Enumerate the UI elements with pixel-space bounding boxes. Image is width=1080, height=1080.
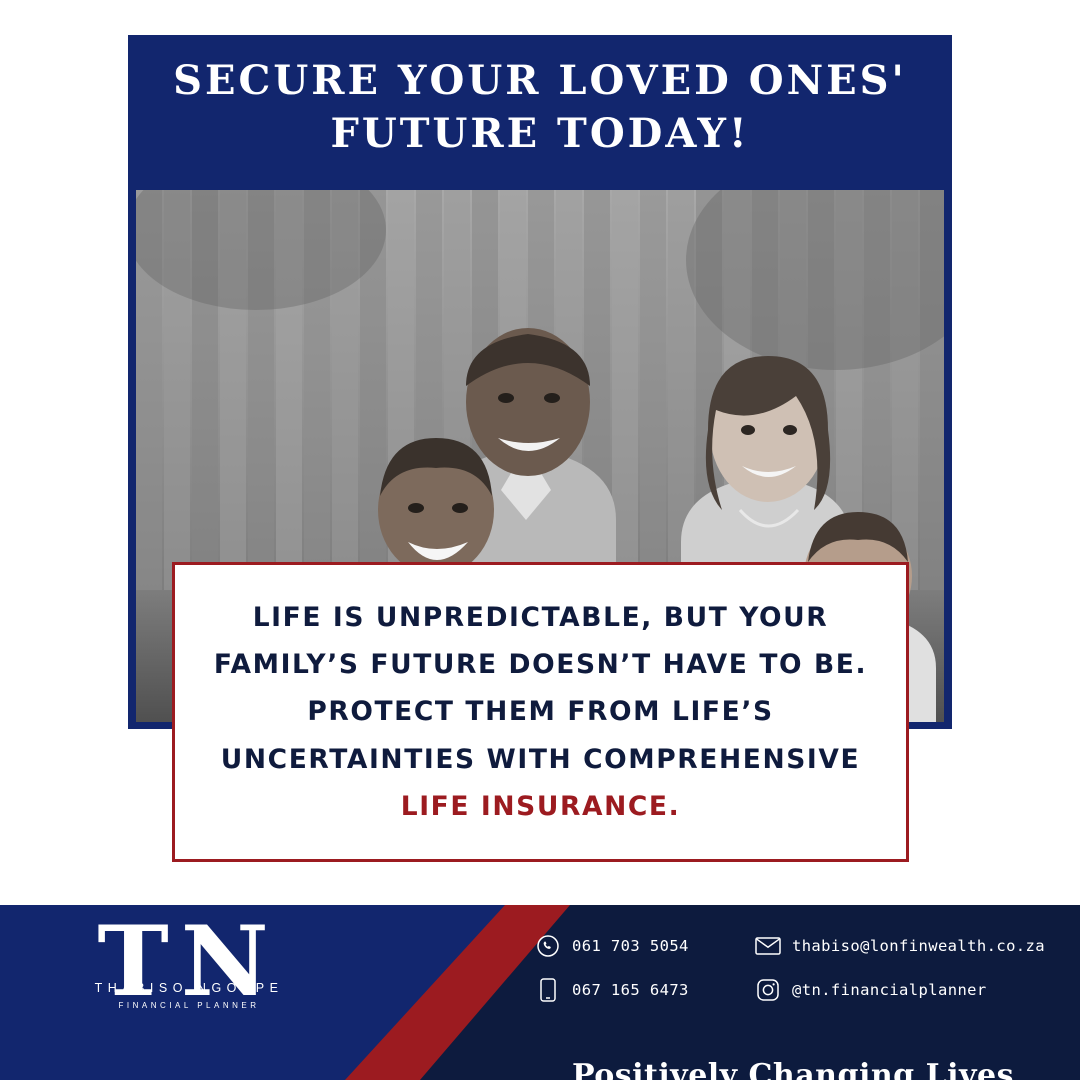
contact-row: 061 703 5054 thabiso@lonfinwealth.co.za [535, 933, 1045, 959]
logo-name: THABISO NGOEPE [44, 981, 334, 995]
contact-mobile[interactable]: 067 165 6473 [535, 977, 755, 1003]
logo-role: FINANCIAL PLANNER [44, 1001, 334, 1010]
whatsapp-icon [535, 933, 561, 959]
mobile-number: 067 165 6473 [572, 981, 689, 999]
contact-instagram[interactable]: @tn.financialplanner [755, 977, 987, 1003]
instagram-handle: @tn.financialplanner [792, 981, 987, 999]
email-address: thabiso@lonfinwealth.co.za [792, 937, 1045, 955]
quote-main-text: LIFE IS UNPREDICTABLE, BUT YOUR FAMILY’S… [214, 602, 867, 774]
quote-text: LIFE IS UNPREDICTABLE, BUT YOUR FAMILY’S… [191, 594, 891, 830]
contact-whatsapp[interactable]: 061 703 5054 [535, 933, 755, 959]
quote-box: LIFE IS UNPREDICTABLE, BUT YOUR FAMILY’S… [172, 562, 909, 862]
quote-accent-text: LIFE INSURANCE. [401, 791, 681, 822]
page-title: SECURE YOUR LOVED ONES' FUTURE TODAY! [128, 55, 952, 161]
brand-logo: TN THABISO NGOEPE FINANCIAL PLANNER [44, 923, 334, 1063]
contact-email[interactable]: thabiso@lonfinwealth.co.za [755, 933, 1045, 959]
contact-block: 061 703 5054 thabiso@lonfinwealth.co.za [535, 933, 1045, 1021]
instagram-icon [755, 977, 781, 1003]
poster: SECURE YOUR LOVED ONES' FUTURE TODAY! [0, 0, 1080, 1080]
footer: TN THABISO NGOEPE FINANCIAL PLANNER 061 … [0, 905, 1080, 1080]
whatsapp-number: 061 703 5054 [572, 937, 689, 955]
tagline: Positively Changing Lives [0, 1058, 1080, 1080]
mobile-icon [535, 977, 561, 1003]
contact-row: 067 165 6473 @tn.financialplanner [535, 977, 1045, 1003]
email-icon [755, 933, 781, 959]
